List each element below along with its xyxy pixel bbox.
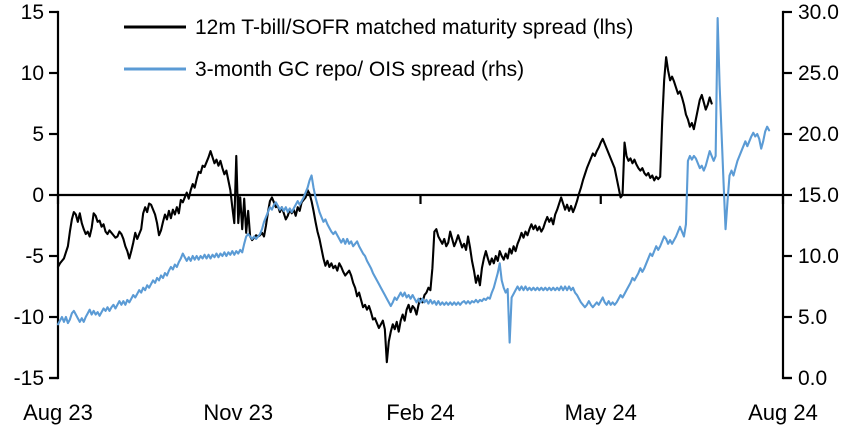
series-line-tbill-sofr bbox=[58, 57, 712, 362]
left-axis-tick-label: -5 bbox=[25, 245, 44, 268]
chart-container: 151050-5-10-15 30.025.020.015.010.05.00.… bbox=[0, 0, 852, 432]
left-axis-tick-label: -10 bbox=[14, 306, 44, 329]
legend-label-1: 3-month GC repo/ OIS spread (rhs) bbox=[195, 58, 524, 81]
right-axis-tick-label: 0.0 bbox=[798, 367, 827, 390]
right-axis-tick-label: 25.0 bbox=[798, 62, 839, 85]
x-axis: Aug 23Nov 23Feb 24May 24Aug 24 bbox=[23, 195, 818, 425]
left-axis-tick-label: -15 bbox=[14, 367, 44, 390]
right-axis-tick-label: 5.0 bbox=[798, 306, 827, 329]
x-axis-tick-label: Nov 23 bbox=[203, 400, 273, 425]
left-axis-tick-label: 15 bbox=[21, 1, 44, 24]
x-axis-tick-label: May 24 bbox=[565, 400, 637, 425]
left-axis-tick-label: 5 bbox=[32, 123, 44, 146]
chart-legend: 12m T-bill/SOFR matched maturity spread … bbox=[124, 16, 633, 81]
left-axis-tick-label: 10 bbox=[21, 62, 44, 85]
right-axis-tick-label: 15.0 bbox=[798, 184, 839, 207]
right-axis: 30.025.020.015.010.05.00.0 bbox=[783, 1, 839, 390]
x-axis-tick-label: Aug 24 bbox=[748, 400, 818, 425]
left-axis-tick-label: 0 bbox=[32, 184, 44, 207]
legend-label-0: 12m T-bill/SOFR matched maturity spread … bbox=[195, 16, 633, 39]
line-chart: 151050-5-10-15 30.025.020.015.010.05.00.… bbox=[0, 0, 852, 432]
left-axis: 151050-5-10-15 bbox=[14, 1, 58, 390]
right-axis-tick-label: 30.0 bbox=[798, 1, 839, 24]
right-axis-tick-label: 20.0 bbox=[798, 123, 839, 146]
x-axis-tick-label: Feb 24 bbox=[386, 400, 455, 425]
x-axis-tick-label: Aug 23 bbox=[23, 400, 93, 425]
right-axis-tick-label: 10.0 bbox=[798, 245, 839, 268]
